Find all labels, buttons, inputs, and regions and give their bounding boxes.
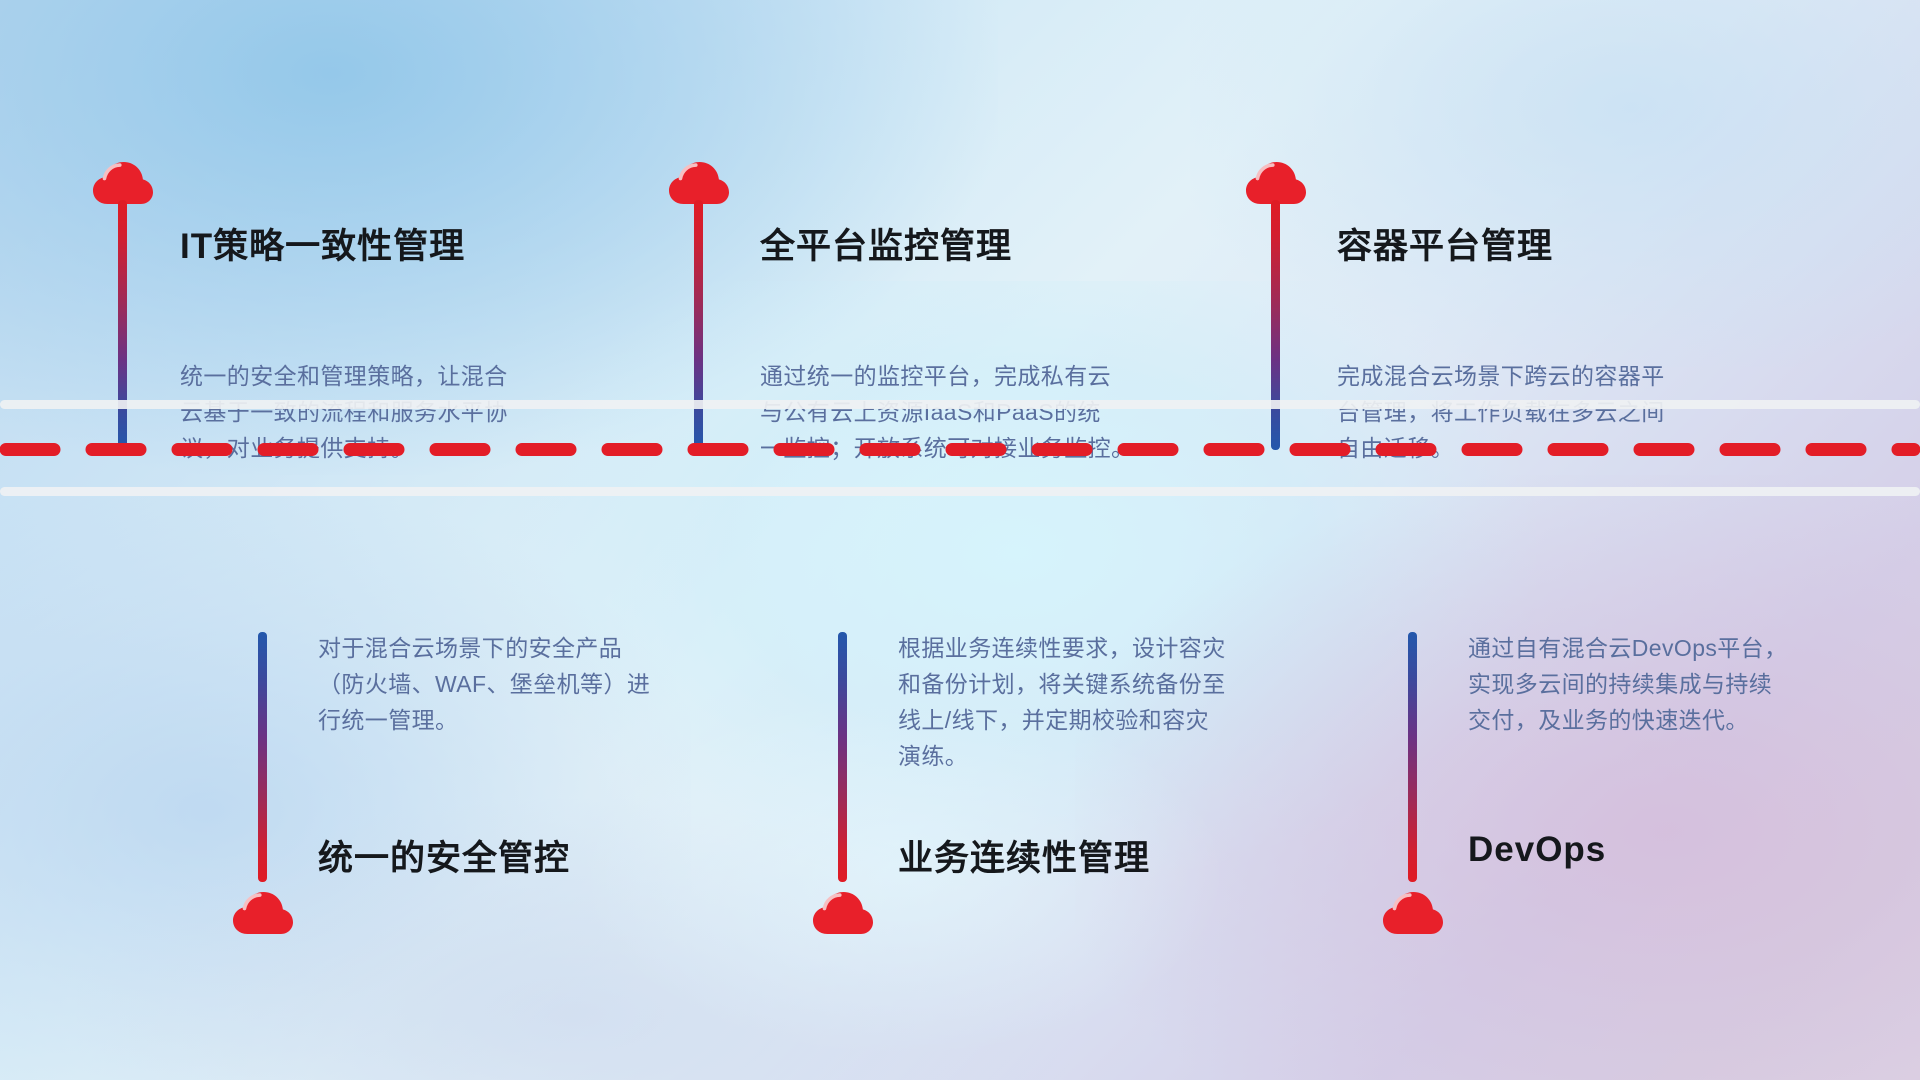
bottom-title-3: DevOps (1468, 830, 1606, 870)
solid-divider-upper (0, 400, 1920, 409)
cloud-icon (812, 890, 874, 936)
infographic-canvas: IT策略一致性管理 统一的安全和管理策略，让混合 云基于一致的流程和服务水平协 … (0, 0, 1920, 1080)
top-title-3: 容器平台管理 (1337, 218, 1553, 269)
bottom-title-1: 统一的安全管控 (318, 830, 570, 881)
solid-divider-lower (0, 487, 1920, 496)
bottom-title-2: 业务连续性管理 (898, 830, 1150, 881)
bottom-body-3: 通过自有混合云DevOps平台， 实现多云间的持续集成与持续 交付，及业务的快速… (1468, 630, 1898, 738)
bottom-body-2: 根据业务连续性要求，设计容灾 和备份计划，将关键系统备份至 线上/线下，并定期校… (898, 630, 1328, 774)
top-title-1: IT策略一致性管理 (180, 218, 465, 269)
cloud-icon (232, 890, 294, 936)
bottom-body-1: 对于混合云场景下的安全产品 （防火墙、WAF、堡垒机等）进 行统一管理。 (318, 630, 748, 738)
dashed-divider (0, 443, 1920, 456)
cloud-icon (1382, 890, 1444, 936)
top-title-2: 全平台监控管理 (760, 218, 1012, 269)
